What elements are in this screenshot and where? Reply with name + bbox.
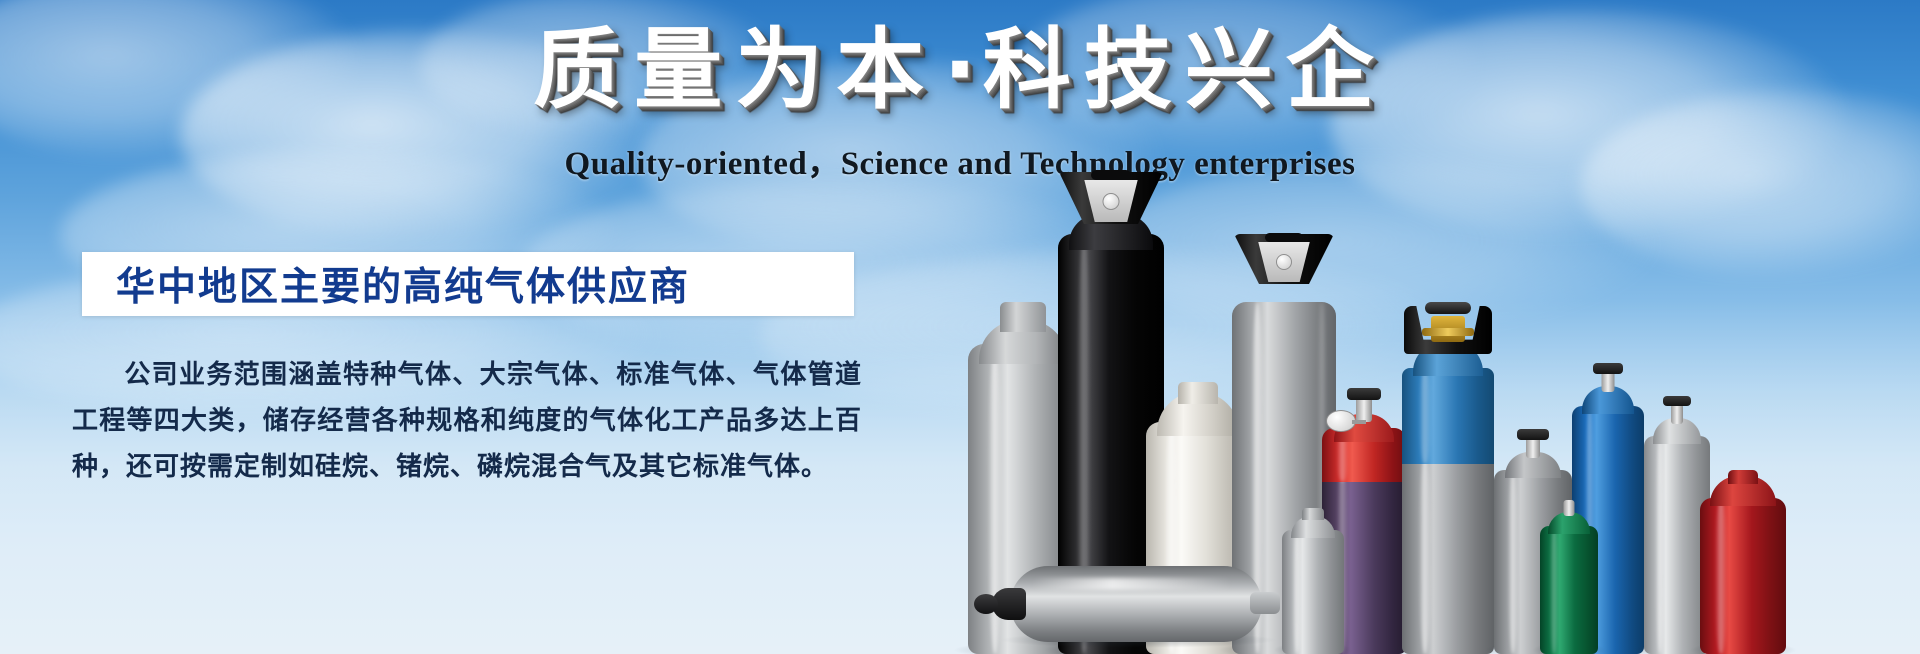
cylinder-aluminium-short — [1282, 510, 1344, 654]
gas-cylinder-group — [940, 0, 1920, 654]
pressure-gauge-icon — [1276, 254, 1292, 270]
valve-knob — [974, 594, 998, 614]
headline-left: 质量为本 — [533, 18, 937, 121]
banner-description: 公司业务范围涵盖特种气体、大宗气体、标准气体、气体管道工程等四大类，储存经营各种… — [72, 352, 862, 490]
hero-banner: 质量为本·科技兴企 Quality-oriented，Science and T… — [0, 0, 1920, 654]
valve-knob — [1517, 429, 1549, 440]
slogan-text: 华中地区主要的高纯气体供应商 — [82, 256, 690, 312]
cylinder-red-short — [1700, 472, 1786, 654]
pressure-gauge-icon — [1103, 193, 1120, 210]
valve-knob — [1663, 396, 1691, 406]
cylinder-grey-horizontal — [992, 566, 1284, 642]
paragraph-text: 公司业务范围涵盖特种气体、大宗气体、标准气体、气体管道工程等四大类，储存经营各种… — [72, 360, 862, 482]
valve-knob — [1593, 363, 1623, 374]
cylinder-blue-grey-brass — [1402, 294, 1494, 654]
cylinder-green-small — [1540, 504, 1598, 654]
valve-knob — [1347, 388, 1381, 400]
slogan-highlight-box: 华中地区主要的高纯气体供应商 — [82, 252, 854, 316]
